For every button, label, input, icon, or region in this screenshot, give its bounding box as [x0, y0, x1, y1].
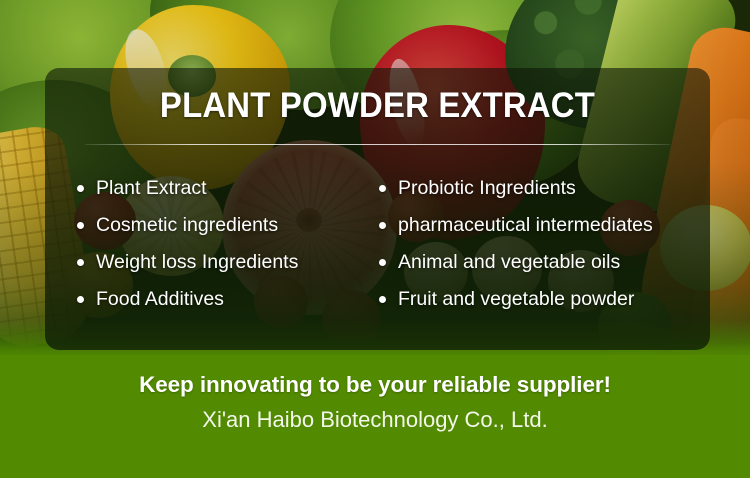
- list-item: Cosmetic ingredients: [77, 207, 377, 244]
- bullet-icon: [379, 296, 386, 303]
- footer-band: Keep innovating to be your reliable supp…: [0, 355, 750, 478]
- list-item: Fruit and vegetable powder: [379, 281, 699, 318]
- category-column-left: Plant Extract Cosmetic ingredients Weigh…: [77, 170, 377, 322]
- product-category-lists: Plant Extract Cosmetic ingredients Weigh…: [45, 170, 710, 322]
- bullet-icon: [379, 259, 386, 266]
- list-item: pharmaceutical intermediates: [379, 207, 699, 244]
- list-item-label: Fruit and vegetable powder: [398, 290, 634, 310]
- list-item: Plant Extract: [77, 170, 377, 207]
- list-item-label: pharmaceutical intermediates: [398, 216, 653, 236]
- company-name: Xi'an Haibo Biotechnology Co., Ltd.: [0, 398, 750, 433]
- list-item-label: Weight loss Ingredients: [96, 253, 298, 273]
- list-item-label: Plant Extract: [96, 179, 207, 199]
- bullet-icon: [77, 222, 84, 229]
- bullet-icon: [379, 222, 386, 229]
- title-divider: [85, 144, 670, 145]
- list-item-label: Probiotic Ingredients: [398, 179, 576, 199]
- list-item: Food Additives: [77, 281, 377, 318]
- list-item-label: Cosmetic ingredients: [96, 216, 278, 236]
- bullet-icon: [77, 185, 84, 192]
- product-banner: PLANT POWDER EXTRACT Plant Extract Cosme…: [0, 0, 750, 478]
- list-item-label: Food Additives: [96, 290, 224, 310]
- bullet-icon: [77, 296, 84, 303]
- bullet-icon: [379, 185, 386, 192]
- list-item: Weight loss Ingredients: [77, 244, 377, 281]
- banner-title: PLANT POWDER EXTRACT: [65, 86, 690, 126]
- category-column-right: Probiotic Ingredients pharmaceutical int…: [379, 170, 699, 322]
- list-item-label: Animal and vegetable oils: [398, 253, 620, 273]
- footer-tagline: Keep innovating to be your reliable supp…: [0, 355, 750, 398]
- list-item: Animal and vegetable oils: [379, 244, 699, 281]
- bullet-icon: [77, 259, 84, 266]
- list-item: Probiotic Ingredients: [379, 170, 699, 207]
